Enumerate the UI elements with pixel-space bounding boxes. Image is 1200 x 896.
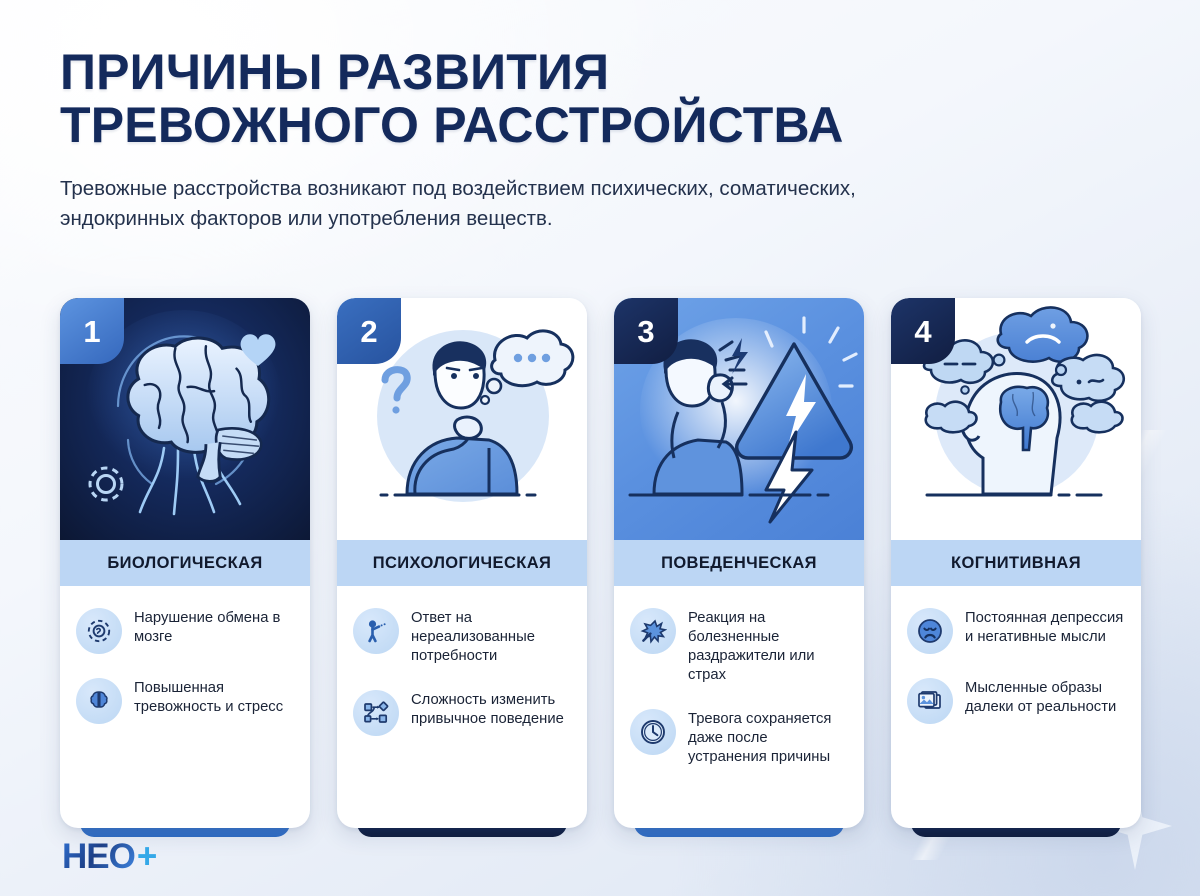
flowchart-icon	[353, 690, 399, 736]
card-illustration-head-with-thought-clouds: 4	[891, 298, 1141, 540]
burst-impact-icon	[630, 608, 676, 654]
logo-plus-icon: +	[137, 839, 156, 874]
list-item: Ответ на нереализованные потребности	[353, 608, 571, 666]
card-illustration-startled-man-warning: 3	[614, 298, 864, 540]
list-item-label: Реакция на болезненные раздражители или …	[688, 608, 848, 685]
logo-name: НЕО	[62, 839, 135, 874]
card-number-badge: 2	[337, 298, 401, 364]
sad-cloud-icon	[998, 307, 1088, 361]
brain-icon	[76, 678, 122, 724]
clock-icon	[630, 709, 676, 755]
list-item: Повышенная тревожность и стресс	[76, 678, 294, 724]
card-bullet-list: Постоянная депрессия и негативные мысли …	[891, 586, 1141, 828]
list-item: Тревога сохраняется даже после устранени…	[630, 709, 848, 767]
page-title-line-1: ПРИЧИНЫ РАЗВИТИЯ	[60, 44, 609, 100]
gear-metabolism-icon	[76, 608, 122, 654]
sad-face-icon	[907, 608, 953, 654]
card-wrapper-2: 2 ПСИХОЛОГИЧЕСКАЯ Ответ на нереализова	[337, 298, 587, 828]
card-illustration-brain-neural-dark: 1	[60, 298, 310, 540]
card-wrapper-4: 4 КОГНИТИВНАЯ Постоянная депрессия и нег…	[891, 298, 1141, 828]
card-number-badge: 4	[891, 298, 955, 364]
list-item: Постоянная депрессия и негативные мысли	[907, 608, 1125, 654]
header: ПРИЧИНЫ РАЗВИТИЯ ТРЕВОЖНОГО РАССТРОЙСТВА…	[60, 46, 1060, 233]
cards-grid: 1 БИОЛОГИЧЕСКАЯ Нарушение обмена в мозге	[60, 298, 1142, 828]
page-title: ПРИЧИНЫ РАЗВИТИЯ ТРЕВОЖНОГО РАССТРОЙСТВА	[60, 46, 1060, 152]
card-bullet-list: Ответ на нереализованные потребности	[337, 586, 587, 828]
list-item-label: Тревога сохраняется даже после устранени…	[688, 709, 848, 767]
card-label-psychological: ПСИХОЛОГИЧЕСКАЯ	[337, 540, 587, 586]
card-bullet-list: Реакция на болезненные раздражители или …	[614, 586, 864, 828]
list-item: Реакция на болезненные раздражители или …	[630, 608, 848, 685]
list-item-label: Мысленные образы далеки от реальности	[965, 678, 1125, 717]
card-label-biological: БИОЛОГИЧЕСКАЯ	[60, 540, 310, 586]
card-wrapper-1: 1 БИОЛОГИЧЕСКАЯ Нарушение обмена в мозге	[60, 298, 310, 828]
person-reaching-icon	[353, 608, 399, 654]
card-number-badge: 1	[60, 298, 124, 364]
card-cognitive[interactable]: 4 КОГНИТИВНАЯ Постоянная депрессия и нег…	[891, 298, 1141, 828]
card-label-behavioral: ПОВЕДЕНЧЕСКАЯ	[614, 540, 864, 586]
card-number-badge: 3	[614, 298, 678, 364]
list-item-label: Нарушение обмена в мозге	[134, 608, 294, 647]
list-item: Мысленные образы далеки от реальности	[907, 678, 1125, 724]
smirk-cloud-icon	[1052, 355, 1124, 401]
list-item: Нарушение обмена в мозге	[76, 608, 294, 654]
card-psychological[interactable]: 2 ПСИХОЛОГИЧЕСКАЯ Ответ на нереализова	[337, 298, 587, 828]
page-title-line-2: ТРЕВОЖНОГО РАССТРОЙСТВА	[60, 99, 1060, 152]
list-item-label: Ответ на нереализованные потребности	[411, 608, 571, 666]
card-biological[interactable]: 1 БИОЛОГИЧЕСКАЯ Нарушение обмена в мозге	[60, 298, 310, 828]
photos-icon	[907, 678, 953, 724]
card-behavioral[interactable]: 3 ПОВЕДЕНЧЕСКАЯ Реакция на болезненные р…	[614, 298, 864, 828]
page-subtitle: Тревожные расстройства возникают под воз…	[60, 174, 930, 233]
list-item-label: Сложность изменить привычное поведение	[411, 690, 571, 729]
card-wrapper-3: 3 ПОВЕДЕНЧЕСКАЯ Реакция на болезненные р…	[614, 298, 864, 828]
card-illustration-thinking-man: 2	[337, 298, 587, 540]
gear-icon	[90, 468, 122, 500]
card-label-cognitive: КОГНИТИВНАЯ	[891, 540, 1141, 586]
list-item-label: Постоянная депрессия и негативные мысли	[965, 608, 1125, 647]
list-item-label: Повышенная тревожность и стресс	[134, 678, 294, 717]
plain-cloud-icon	[1072, 402, 1123, 433]
list-item: Сложность изменить привычное поведение	[353, 690, 571, 736]
card-bullet-list: Нарушение обмена в мозге Повышенная трев…	[60, 586, 310, 828]
logo: НЕО +	[62, 839, 156, 874]
